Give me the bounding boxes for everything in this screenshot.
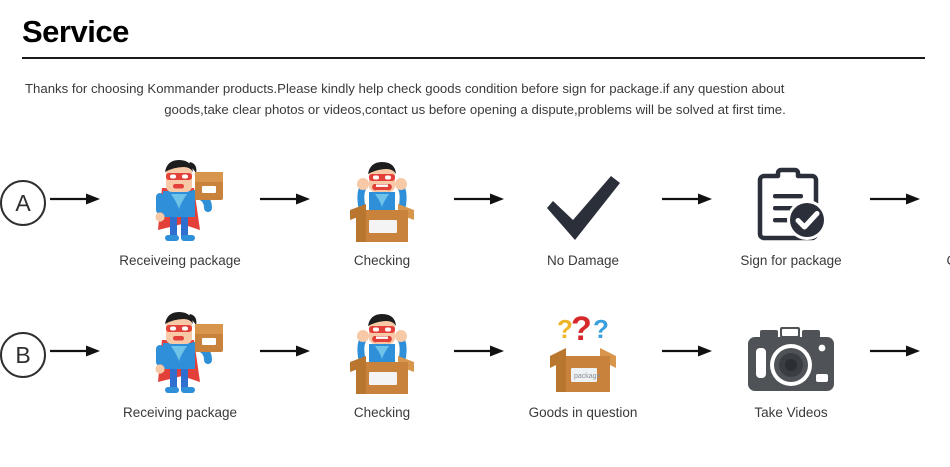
- step-label: Receiving package: [123, 404, 237, 421]
- arrow-icon: [866, 310, 924, 358]
- arrow-icon: [866, 158, 924, 206]
- person-in-open-box-icon: [336, 310, 428, 398]
- step-label: Receiveing package: [119, 252, 241, 269]
- step-a-2: Checking: [314, 158, 450, 269]
- box-question-marks-icon: ? ? ? package: [536, 310, 630, 398]
- arrow-icon: [46, 310, 104, 358]
- step-label: Checking: [354, 252, 410, 269]
- arrow-icon: [46, 158, 104, 206]
- page-header: Service: [22, 14, 928, 59]
- arrow-icon: [450, 310, 508, 358]
- step-b-1: Receiving package: [104, 310, 256, 421]
- checkmark-icon: [541, 158, 625, 246]
- circle-letter-b: B: [0, 332, 46, 378]
- superhero-with-package-icon: [132, 158, 228, 246]
- arrow-icon: [450, 158, 508, 206]
- step-label: Take Videos: [754, 404, 827, 421]
- intro-line-1: Thanks for choosing Kommander products.P…: [25, 78, 925, 99]
- step-a-1: Receiveing package: [104, 158, 256, 269]
- step-label: Sign for package: [740, 252, 841, 269]
- step-label: Checking: [354, 404, 410, 421]
- camera-icon: [744, 310, 838, 398]
- step-a-5: Confirm the delivery: [924, 158, 950, 269]
- page-title: Service: [22, 14, 928, 50]
- arrow-icon: [658, 310, 716, 358]
- step-label: Goods in question: [529, 404, 638, 421]
- step-label: No Damage: [547, 252, 619, 269]
- service-info-page: Service Thanks for choosing Kommander pr…: [0, 0, 950, 467]
- row-b-marker: B: [0, 310, 46, 378]
- svg-text:?: ?: [571, 312, 592, 348]
- step-b-2: Checking: [314, 310, 450, 421]
- step-b-5: $ $: [924, 310, 950, 438]
- intro-line-2: goods,take clear photos or videos,contac…: [25, 99, 925, 120]
- row-a-marker: A: [0, 158, 46, 226]
- step-b-3: ? ? ? package Goods in question: [508, 310, 658, 421]
- title-divider: [22, 57, 925, 59]
- svg-text:package: package: [574, 373, 601, 380]
- clipboard-check-icon: [752, 158, 830, 246]
- step-a-4: Sign for package: [716, 158, 866, 269]
- step-a-3: No Damage: [508, 158, 658, 269]
- step-b-4: Take Videos: [716, 310, 866, 421]
- flow-row-a: A: [0, 158, 950, 283]
- arrow-icon: [658, 158, 716, 206]
- flow-row-b: B: [0, 310, 950, 435]
- intro-paragraph: Thanks for choosing Kommander products.P…: [25, 78, 925, 120]
- arrow-icon: [256, 158, 314, 206]
- superhero-with-package-icon: [132, 310, 228, 398]
- arrow-icon: [256, 310, 314, 358]
- circle-letter-a: A: [0, 180, 46, 226]
- svg-text:?: ?: [593, 314, 609, 344]
- step-label: Confirm the delivery: [946, 252, 950, 269]
- person-in-open-box-icon: [336, 158, 428, 246]
